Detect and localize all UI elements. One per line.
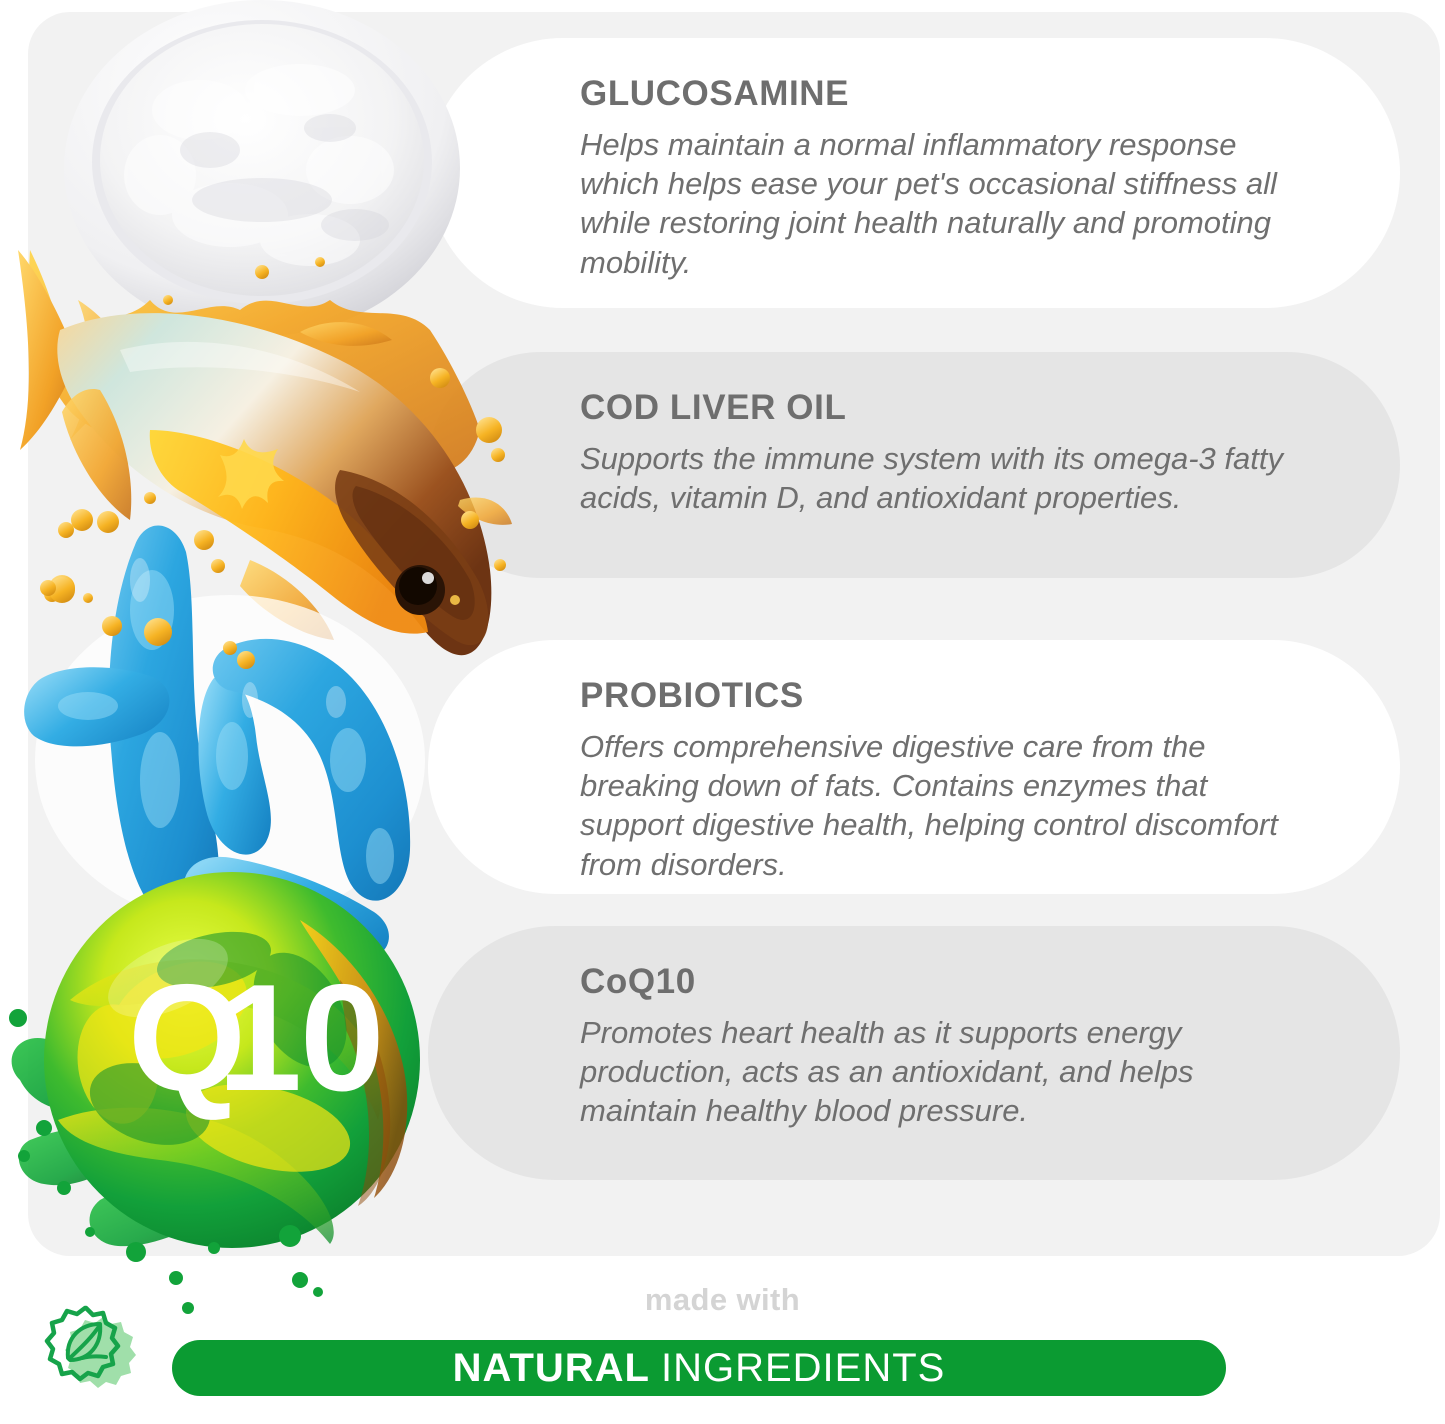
footer-banner: made with NATURAL INGREDIENTS <box>0 1256 1445 1424</box>
natural-ingredients-bar: NATURAL INGREDIENTS <box>172 1340 1226 1396</box>
ingredients-label: INGREDIENTS <box>661 1346 945 1391</box>
natural-label: NATURAL <box>453 1346 650 1391</box>
ingredient-card: CoQ10 Promotes heart health as it suppor… <box>428 926 1400 1180</box>
ingredient-card: COD LIVER OIL Supports the immune system… <box>428 352 1400 578</box>
ingredient-card: PROBIOTICS Offers comprehensive digestiv… <box>428 640 1400 894</box>
ingredient-description: Offers comprehensive digestive care from… <box>580 727 1304 884</box>
ingredient-title: GLUCOSAMINE <box>580 76 1304 113</box>
ingredient-card: GLUCOSAMINE Helps maintain a normal infl… <box>428 38 1400 308</box>
made-with-label: made with <box>0 1282 1445 1318</box>
ingredient-description: Promotes heart health as it supports ene… <box>580 1013 1304 1131</box>
leaf-seal-icon <box>36 1296 144 1404</box>
ingredient-description: Supports the immune system with its omeg… <box>580 439 1304 518</box>
ingredient-description: Helps maintain a normal inflammatory res… <box>580 125 1304 282</box>
ingredient-title: PROBIOTICS <box>580 678 1304 715</box>
ingredient-title: CoQ10 <box>580 964 1304 1001</box>
ingredient-title: COD LIVER OIL <box>580 390 1304 427</box>
